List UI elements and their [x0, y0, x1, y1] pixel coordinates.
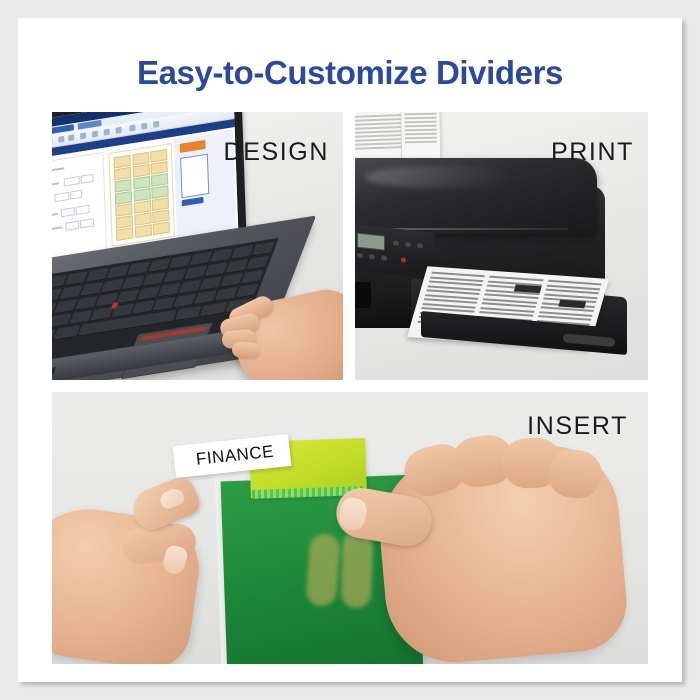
preview-frame — [180, 154, 209, 199]
panel-insert: FINANCE INSERT — [52, 392, 648, 664]
apply-button[interactable] — [182, 197, 204, 206]
hand-on-keyboard — [202, 280, 343, 380]
panel-label-print: PRINT — [551, 138, 634, 167]
options-pane — [52, 152, 107, 264]
tray-handle[interactable] — [563, 333, 615, 347]
left-hand — [52, 462, 248, 662]
panel-label-insert: INSERT — [527, 412, 628, 441]
page-title: Easy-to-Customize Dividers — [18, 54, 682, 92]
selected-item-highlight — [180, 140, 206, 153]
template-preview — [108, 143, 174, 247]
printer-slot — [355, 282, 371, 308]
printer-display — [357, 233, 385, 251]
divider-template-grid — [114, 149, 170, 241]
finger-through-divider — [306, 533, 341, 607]
panel-label-design: DESIGN — [224, 138, 329, 167]
printer-scanner-lid[interactable] — [355, 158, 597, 234]
panel-print: PRINT — [355, 112, 648, 380]
printer-control-panel[interactable] — [355, 223, 435, 279]
right-hand — [344, 416, 644, 664]
finger — [231, 341, 260, 359]
panel-design: DESIGN — [52, 112, 343, 380]
lid-highlight — [365, 166, 515, 188]
product-image-card: Easy-to-Customize Dividers — [18, 18, 682, 682]
power-button[interactable] — [401, 257, 406, 263]
